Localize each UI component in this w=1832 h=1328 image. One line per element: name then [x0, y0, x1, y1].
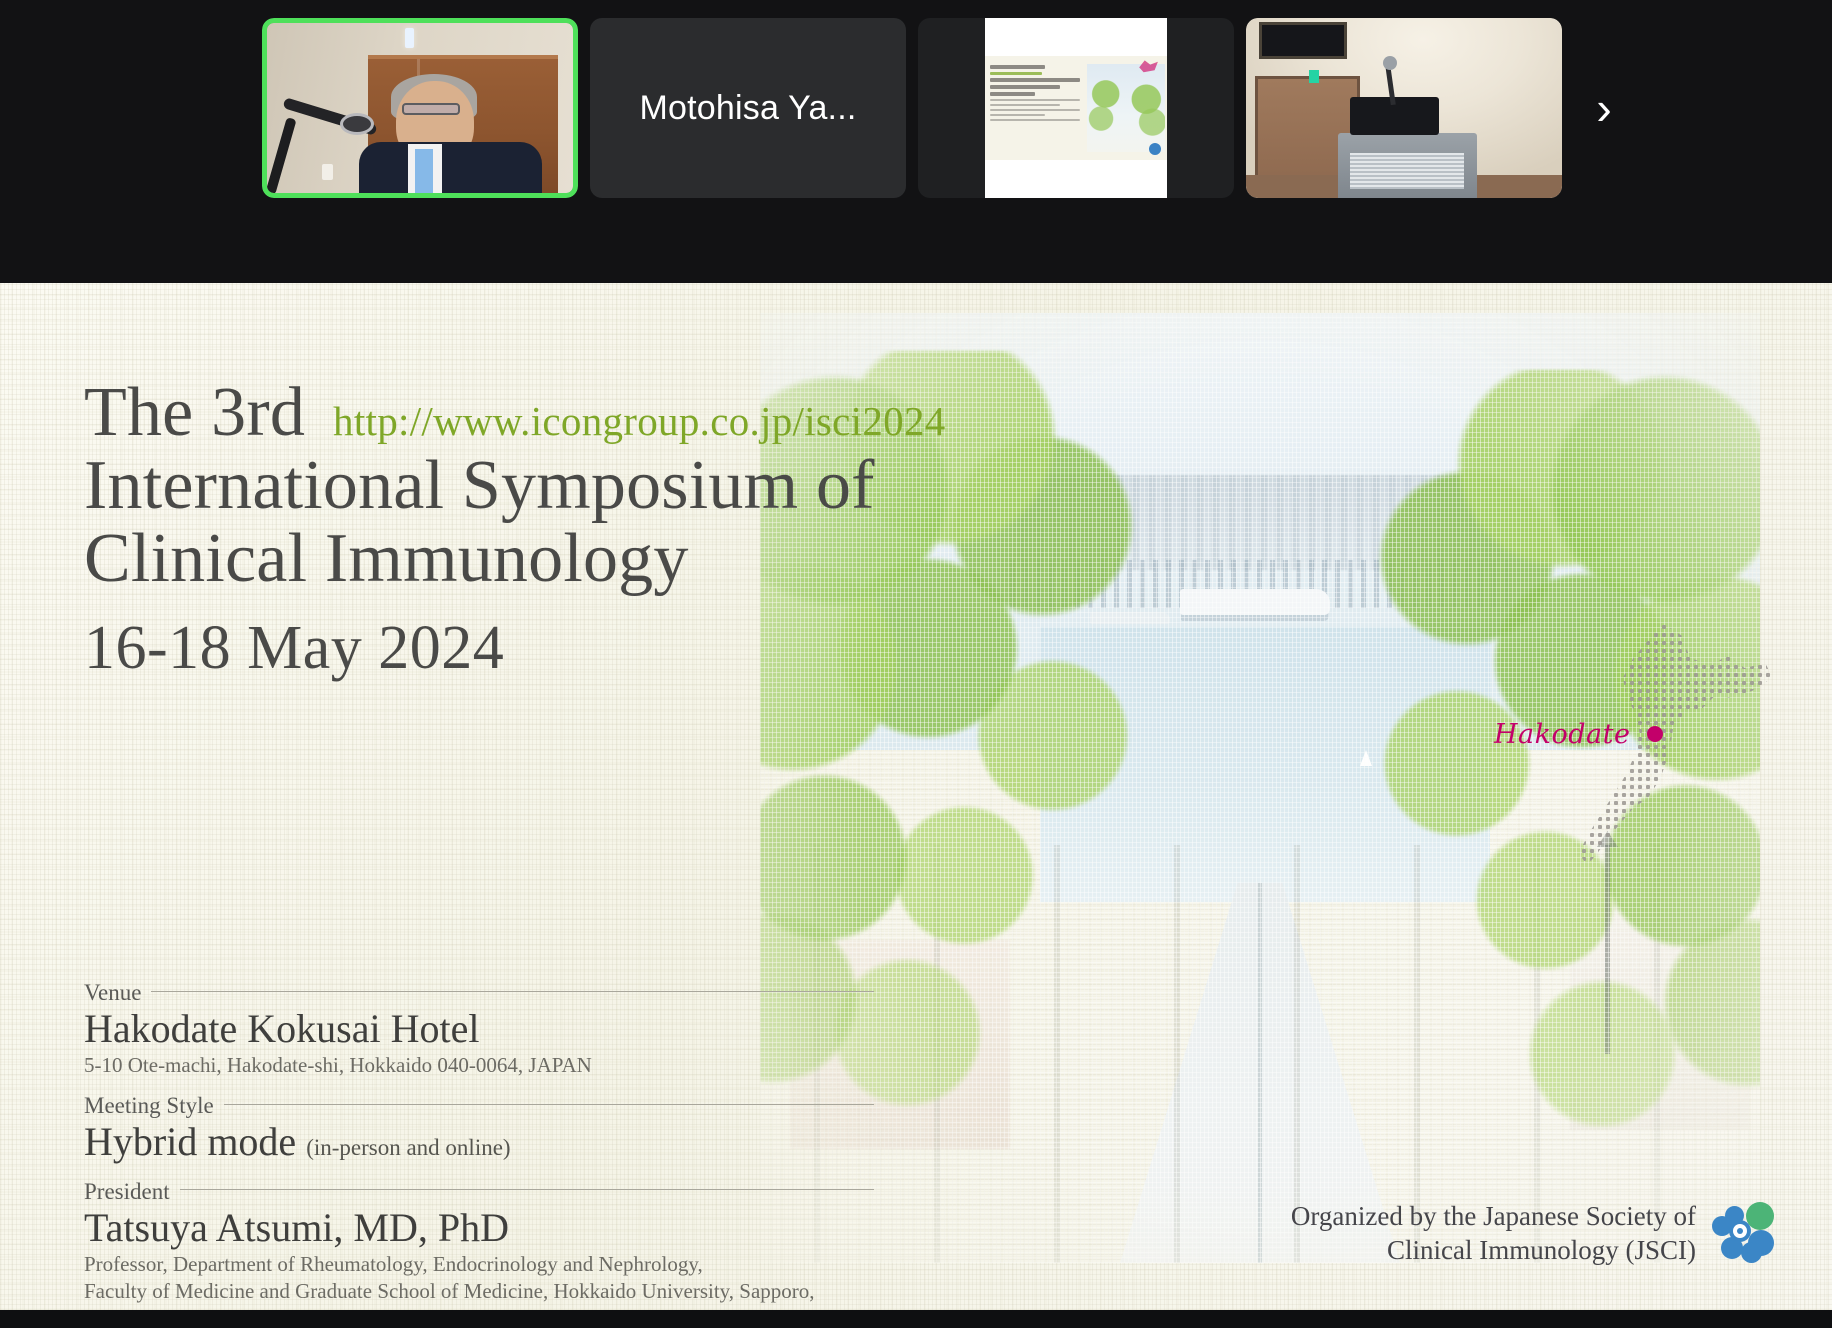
headline-first-row: The 3rd http://www.icongroup.co.jp/isci2…: [84, 377, 1144, 450]
detail-rule: [151, 991, 874, 992]
detail-label-venue: Venue: [84, 980, 141, 1006]
organizer-line-2: Clinical Immunology (JSCI): [1291, 1233, 1696, 1268]
person-necktie: [415, 149, 433, 193]
detail-label-president: President: [84, 1179, 170, 1205]
meeting-style-suffix: (in-person and online): [306, 1135, 510, 1160]
slide-details: Venue Hakodate Kokusai Hotel 5-10 Ote-ma…: [84, 980, 874, 1310]
detail-block-president: President Tatsuya Atsumi, MD, PhD Profes…: [84, 1179, 874, 1310]
symposium-ordinal: The 3rd: [84, 377, 305, 450]
mini-line: [990, 109, 1080, 111]
mini-line: [990, 104, 1060, 106]
wall-panel-light: [405, 28, 414, 48]
thumbnail-presenter-camera[interactable]: [262, 18, 578, 198]
detail-value-meeting-style: Hybrid mode (in-person and online): [84, 1120, 874, 1165]
detail-value-venue: Hakodate Kokusai Hotel: [84, 1007, 874, 1052]
hakodate-location-marker-icon: [1647, 726, 1663, 742]
detail-rule: [224, 1104, 874, 1105]
mini-line: [990, 114, 1045, 116]
detail-heading: Venue: [84, 980, 874, 1006]
filmstrip-next-arrow-icon[interactable]: ›: [1574, 18, 1634, 198]
hakodate-label: Hakodate: [1494, 719, 1630, 750]
mini-line: [990, 99, 1080, 101]
exit-sign-icon: [1309, 70, 1319, 83]
thumbnail-participant-name[interactable]: Motohisa Ya...: [590, 18, 906, 198]
symposium-url[interactable]: http://www.icongroup.co.jp/isci2024: [333, 397, 946, 445]
mini-line: [990, 119, 1080, 121]
room-video-frame: [1246, 18, 1562, 198]
detail-block-meeting-style: Meeting Style Hybrid mode (in-person and…: [84, 1093, 874, 1165]
mini-logo: [1149, 143, 1161, 155]
detail-label-meeting-style: Meeting Style: [84, 1093, 214, 1119]
detail-block-venue: Venue Hakodate Kokusai Hotel 5-10 Ote-ma…: [84, 980, 874, 1079]
presenter-video-frame: [267, 23, 573, 193]
thumbnail-room-camera[interactable]: [1246, 18, 1562, 198]
hokkaido-map-block: Hakodate: [1494, 623, 1794, 873]
wall-monitor: [1259, 22, 1347, 60]
participant-filmstrip: Motohisa Ya...: [0, 0, 1832, 283]
eyeglasses: [402, 103, 460, 115]
organizer-block: Organized by the Japanese Society of Cli…: [1291, 1199, 1774, 1268]
window-bottom-bar: [0, 1310, 1832, 1328]
symposium-title-line-2: Clinical Immunology: [84, 523, 1144, 596]
mini-line: [990, 85, 1060, 89]
jsci-logo-icon: [1712, 1202, 1774, 1264]
mini-line: [990, 92, 1035, 96]
shared-slide-content: Hakodate The 3rd http://www.icongroup.co…: [0, 283, 1832, 1310]
detail-value-president: Tatsuya Atsumi, MD, PhD: [84, 1206, 874, 1251]
filmstrip-tiles: Motohisa Ya...: [262, 18, 1634, 198]
mini-photo: [1087, 64, 1165, 152]
symposium-title-line-1: International Symposium of: [84, 450, 1144, 523]
detail-subtext-president-affiliation: Professor, Department of Rheumatology, E…: [84, 1251, 874, 1310]
mini-url-line: [990, 72, 1042, 75]
video-conference-window: Motohisa Ya...: [0, 0, 1832, 1328]
shared-document-preview: [985, 18, 1167, 198]
slide-headline: The 3rd http://www.icongroup.co.jp/isci2…: [84, 377, 1144, 684]
detail-heading: Meeting Style: [84, 1093, 874, 1119]
symposium-dates: 16-18 May 2024: [84, 613, 1144, 684]
detail-rule: [180, 1189, 874, 1190]
organizer-text: Organized by the Japanese Society of Cli…: [1291, 1199, 1696, 1268]
detail-subtext-venue-address: 5-10 Ote-machi, Hakodate-shi, Hokkaido 0…: [84, 1052, 874, 1079]
slide-miniature: [985, 56, 1167, 160]
mini-line: [990, 65, 1045, 69]
organizer-line-1: Organized by the Japanese Society of: [1291, 1199, 1696, 1234]
slide-miniature-text-block: [990, 65, 1090, 124]
photo-street-lamp: [1605, 845, 1610, 1054]
wall-switch: [322, 164, 333, 180]
meeting-style-main: Hybrid mode: [84, 1119, 296, 1164]
podium-panel: [1350, 153, 1464, 189]
participant-name-label: Motohisa Ya...: [640, 89, 857, 128]
person-suit: [359, 142, 543, 193]
detail-heading: President: [84, 1179, 874, 1205]
thumbnail-shared-screen[interactable]: [918, 18, 1234, 198]
mini-line: [990, 78, 1080, 82]
